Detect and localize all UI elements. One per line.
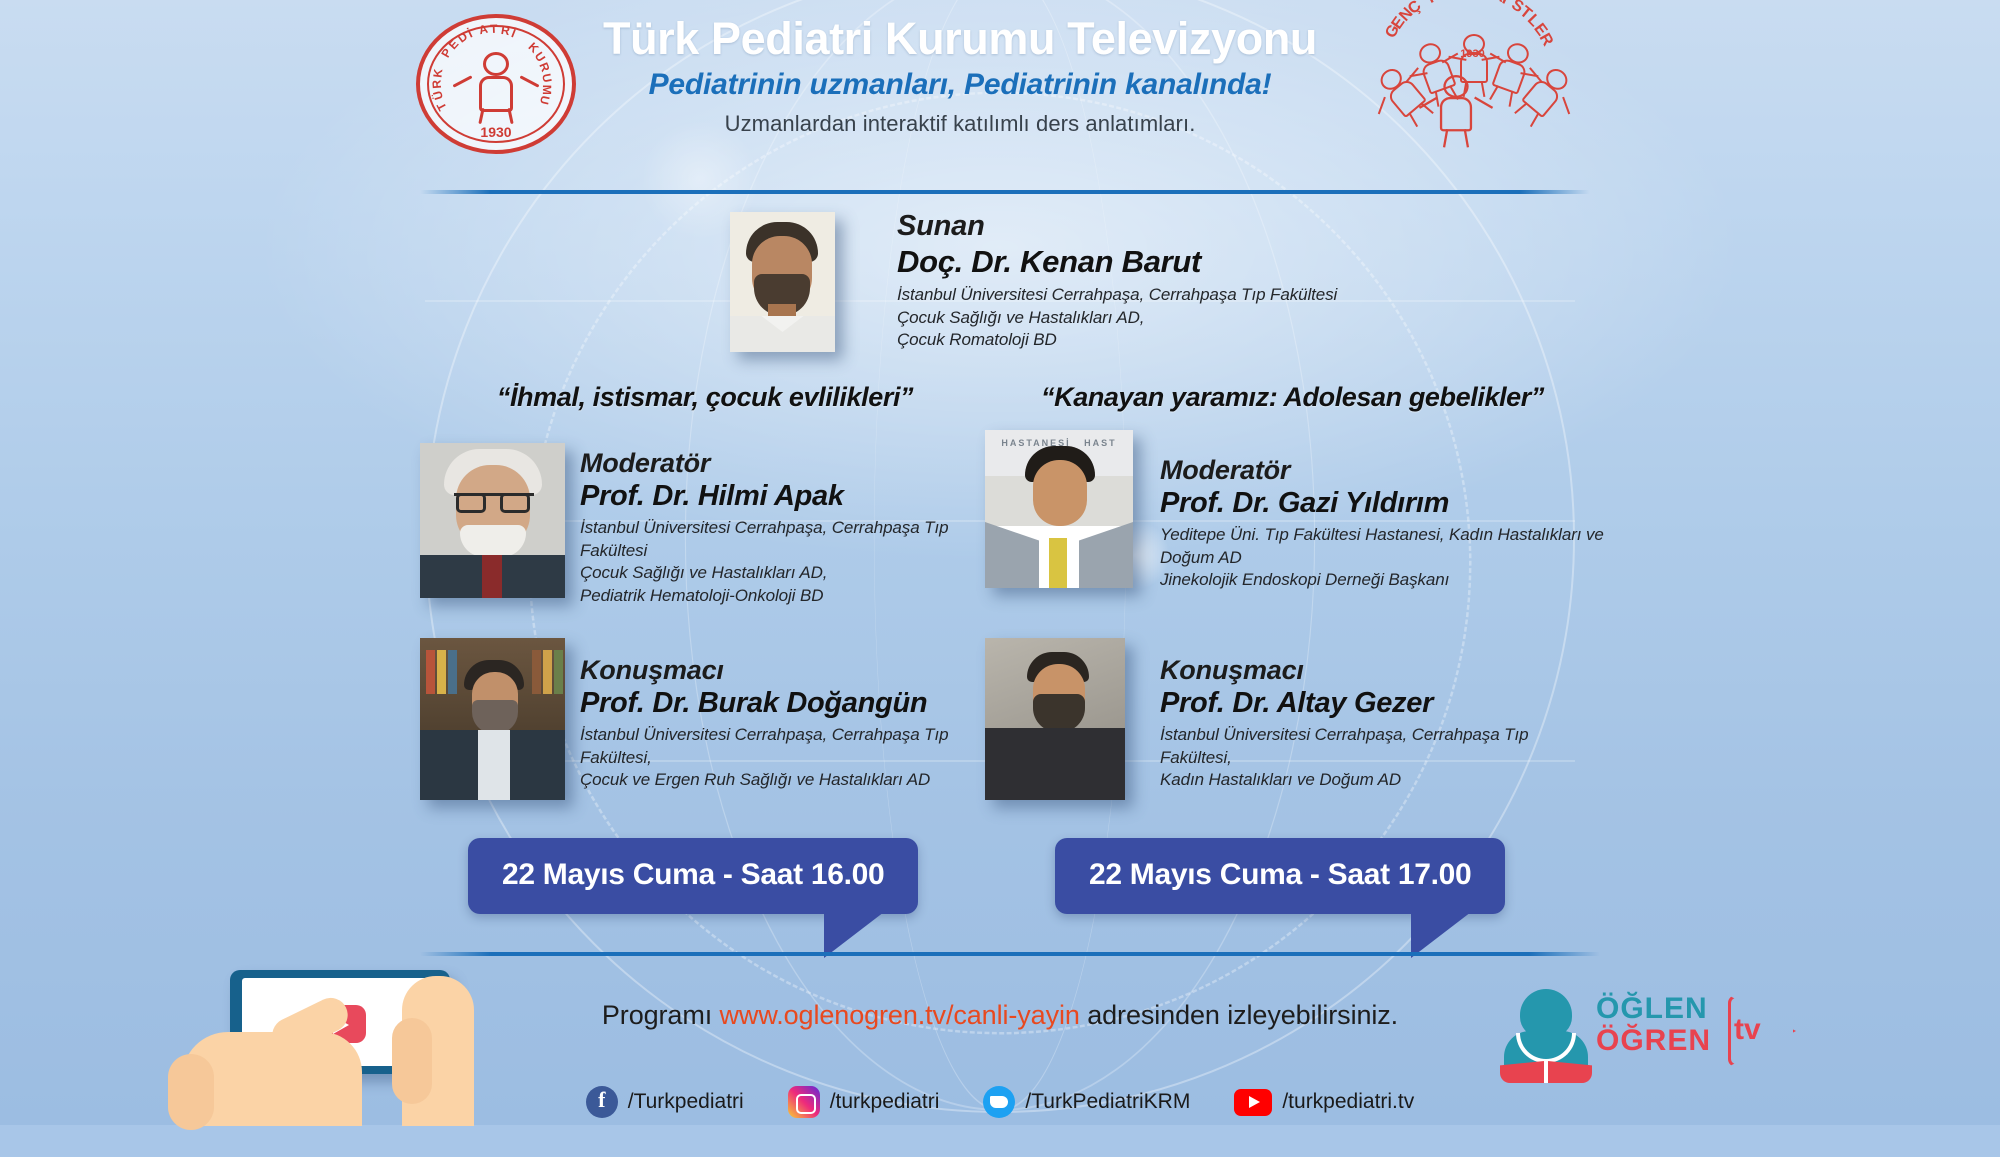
page-title: Türk Pediatri Kurumu Televizyonu bbox=[540, 16, 1380, 63]
doctor-reading-icon bbox=[1500, 989, 1592, 1077]
host-photo bbox=[730, 212, 835, 352]
social-handle: /turkpediatri bbox=[830, 1090, 940, 1114]
host-info: Sunan Doç. Dr. Kenan Barut İstanbul Üniv… bbox=[897, 210, 1517, 352]
twitter-icon bbox=[983, 1086, 1015, 1118]
livestream-url[interactable]: www.oglenogren.tv/canli-yayin bbox=[720, 1000, 1080, 1030]
moderator-2-name: Prof. Dr. Gazi Yıldırım bbox=[1160, 487, 1620, 520]
host-affiliation: İstanbul Üniversitesi Cerrahpaşa, Cerrah… bbox=[897, 284, 1517, 352]
session-2-datetime-banner: 22 Mayıs Cuma - Saat 17.00 bbox=[1055, 838, 1505, 914]
speaker-1-affiliation: İstanbul Üniversitesi Cerrahpaşa, Cerrah… bbox=[580, 724, 1010, 792]
session-1-title: “İhmal, istismar, çocuk evlilikleri” bbox=[420, 382, 990, 413]
moderator-1-affiliation: İstanbul Üniversitesi Cerrahpaşa, Cerrah… bbox=[580, 517, 1010, 607]
session-2-title: “Kanayan yaramız: Adolesan gebelikler” bbox=[985, 382, 1600, 413]
social-handle: /Turkpediatri bbox=[628, 1090, 744, 1114]
moderator-1-role: Moderatör bbox=[580, 448, 1010, 479]
oglen-ogren-tv-logo: ÖĞLEN ÖĞREN tv bbox=[1500, 985, 1750, 1080]
moderator-1-name: Prof. Dr. Hilmi Apak bbox=[580, 480, 1010, 513]
speaker-1-role: Konuşmacı bbox=[580, 655, 1010, 686]
social-media-bar: /Turkpediatri/turkpediatri/TurkPediatriK… bbox=[0, 1086, 2000, 1118]
speaker-2-photo bbox=[985, 638, 1125, 800]
host-role: Sunan bbox=[897, 210, 1517, 243]
session-1-datetime: 22 Mayıs Cuma - Saat 16.00 bbox=[468, 838, 918, 914]
brand-wordmark: ÖĞLEN ÖĞREN bbox=[1596, 993, 1711, 1058]
tv-label: tv bbox=[1734, 1013, 1761, 1047]
facebook-icon bbox=[586, 1086, 618, 1118]
speaker-1-name: Prof. Dr. Burak Doğangün bbox=[580, 687, 1010, 720]
host-name: Doç. Dr. Kenan Barut bbox=[897, 244, 1517, 280]
session-1-datetime-banner: 22 Mayıs Cuma - Saat 16.00 bbox=[468, 838, 918, 914]
session-2-datetime: 22 Mayıs Cuma - Saat 17.00 bbox=[1055, 838, 1505, 914]
moderator-1-photo bbox=[420, 443, 565, 598]
children-figures-icon bbox=[1370, 46, 1575, 151]
moderator-2-role: Moderatör bbox=[1160, 455, 1620, 486]
bottom-divider bbox=[420, 952, 1600, 956]
moderator-2-affiliation: Yeditepe Üni. Tıp Fakültesi Hastanesi, K… bbox=[1160, 524, 1620, 592]
moderator-2-info: Moderatör Prof. Dr. Gazi Yıldırım Yedite… bbox=[1160, 455, 1620, 592]
moderator-1-info: Moderatör Prof. Dr. Hilmi Apak İstanbul … bbox=[580, 448, 1010, 607]
speaker-1-photo bbox=[420, 638, 565, 800]
speaker-2-affiliation: İstanbul Üniversitesi Cerrahpaşa, Cerrah… bbox=[1160, 724, 1590, 792]
page-tagline: Uzmanlardan interaktif katılımlı ders an… bbox=[540, 111, 1380, 137]
social-handle: /turkpediatri.tv bbox=[1282, 1090, 1414, 1114]
speaker-2-name: Prof. Dr. Altay Gezer bbox=[1160, 687, 1590, 720]
page-subtitle: Pediatrinin uzmanları, Pediatrinin kanal… bbox=[540, 68, 1380, 102]
social-link-youtube[interactable]: /turkpediatri.tv bbox=[1234, 1089, 1414, 1116]
youtube-icon bbox=[1234, 1089, 1272, 1116]
poster-header: TÜRK PEDİATRİ KURUMU 1930 Türk Pediatri … bbox=[0, 0, 2000, 180]
watch-suffix: adresinden izleyebilirsiniz. bbox=[1080, 1000, 1398, 1030]
tv-play-icon: tv bbox=[1728, 995, 1796, 1067]
brand-line-1: ÖĞLEN bbox=[1596, 993, 1711, 1025]
speaker-2-role: Konuşmacı bbox=[1160, 655, 1590, 686]
speaker-2-info: Konuşmacı Prof. Dr. Altay Gezer İstanbul… bbox=[1160, 655, 1590, 792]
moderator-2-photo: HASTANESİ HAST bbox=[985, 430, 1133, 588]
title-block: Türk Pediatri Kurumu Televizyonu Pediatr… bbox=[540, 16, 1380, 137]
brand-line-2: ÖĞREN bbox=[1596, 1025, 1711, 1057]
speaker-1-info: Konuşmacı Prof. Dr. Burak Doğangün İstan… bbox=[580, 655, 1010, 792]
top-divider bbox=[420, 190, 1590, 194]
social-handle: /TurkPediatriKRM bbox=[1025, 1090, 1190, 1114]
watch-prefix: Programı bbox=[602, 1000, 720, 1030]
social-link-twitter[interactable]: /TurkPediatriKRM bbox=[983, 1086, 1190, 1118]
social-link-facebook[interactable]: /Turkpediatri bbox=[586, 1086, 744, 1118]
instagram-icon bbox=[788, 1086, 820, 1118]
genç-pediatristler-logo: GENÇ PEDİATRİSTLER 1930 bbox=[1370, 8, 1575, 148]
child-figure-icon bbox=[468, 52, 524, 114]
social-link-instagram[interactable]: /turkpediatri bbox=[788, 1086, 940, 1118]
